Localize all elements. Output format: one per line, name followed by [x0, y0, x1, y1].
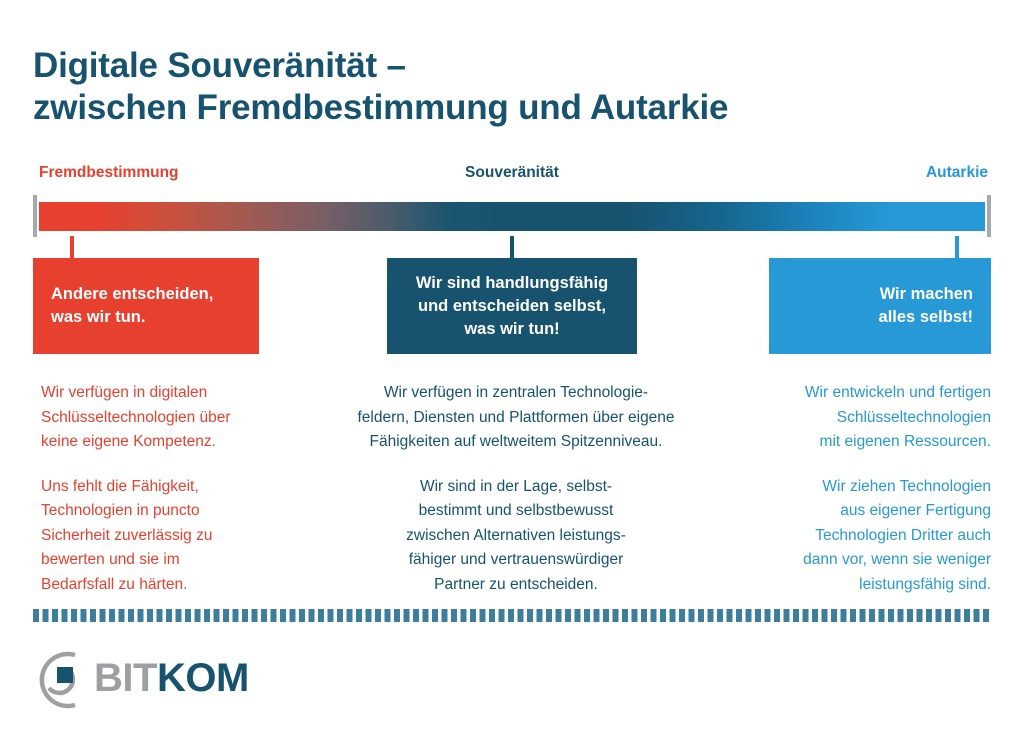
statement-right-line-1: Wir machen — [787, 283, 973, 306]
text-line: aus eigener Fertigung — [751, 499, 991, 524]
text-line: Wir sind in der Lage, selbst- — [351, 475, 681, 500]
page-title-line-2: zwischen Fremdbestimmung und Autarkie — [33, 87, 973, 129]
description-center-paragraph-1: Wir verfügen in zentralen Technologie- f… — [351, 381, 681, 455]
text-line: Bedarfsfall zu härten. — [41, 573, 276, 598]
description-right-paragraph-2: Wir ziehen Technologien aus eigener Fert… — [751, 475, 991, 598]
text-line: Schlüsseltechnologien über — [41, 406, 276, 431]
infographic-page: Digitale Souveränität – zwischen Fremdbe… — [0, 0, 1024, 743]
spectrum-endcap-left — [33, 195, 37, 237]
scale-label-autarkie: Autarkie — [926, 163, 988, 183]
statement-boxes: Andere entscheiden, was wir tun. Wir sin… — [33, 258, 991, 354]
text-line: Technologien in puncto — [41, 499, 276, 524]
text-line: Wir verfügen in zentralen Technologie- — [351, 381, 681, 406]
scale-label-souveraenitaet: Souveränität — [33, 163, 991, 183]
text-line: dann vor, wenn sie weniger — [751, 548, 991, 573]
text-line: Wir entwickeln und fertigen — [751, 381, 991, 406]
description-column-left: Wir verfügen in digitalen Schlüsseltechn… — [41, 381, 276, 597]
statement-left-line-1: Andere entscheiden, — [51, 283, 241, 306]
statement-center-line-3: was wir tun! — [399, 318, 625, 341]
text-line: Wir verfügen in digitalen — [41, 381, 276, 406]
page-title: Digitale Souveränität – zwischen Fremdbe… — [33, 45, 973, 129]
bitkom-wordmark-bit: BIT — [94, 656, 157, 700]
statement-right-line-2: alles selbst! — [787, 306, 973, 329]
dashed-divider — [33, 609, 991, 622]
text-line: fähiger und vertrauenswürdiger — [351, 548, 681, 573]
connector-center — [510, 236, 514, 258]
text-line: Technologien Dritter auch — [751, 524, 991, 549]
text-line: leistungsfähig sind. — [751, 573, 991, 598]
description-left-paragraph-1: Wir verfügen in digitalen Schlüsseltechn… — [41, 381, 276, 455]
text-line: bestimmt und selbstbewusst — [351, 499, 681, 524]
description-center-paragraph-2: Wir sind in der Lage, selbst- bestimmt u… — [351, 475, 681, 598]
page-title-line-1: Digitale Souveränität – — [33, 45, 973, 87]
statement-box-center: Wir sind handlungsfähig und entscheiden … — [387, 258, 637, 354]
description-column-center: Wir verfügen in zentralen Technologie- f… — [351, 381, 681, 597]
spectrum-gradient — [39, 202, 985, 231]
text-line: keine eigene Kompetenz. — [41, 430, 276, 455]
statement-left-line-2: was wir tun. — [51, 306, 241, 329]
text-line: Wir ziehen Technologien — [751, 475, 991, 500]
connector-right — [955, 236, 959, 258]
statement-center-line-1: Wir sind handlungsfähig — [399, 272, 625, 295]
description-left-paragraph-2: Uns fehlt die Fähigkeit, Technologien in… — [41, 475, 276, 598]
text-line: zwischen Alternativen leistungs- — [351, 524, 681, 549]
connector-left — [70, 236, 74, 258]
scale-labels: Fremdbestimmung Souveränität Autarkie — [33, 163, 991, 185]
text-line: bewerten und sie im — [41, 548, 276, 573]
text-line: Schlüsseltechnologien — [751, 406, 991, 431]
text-line: Fähigkeiten auf weltweitem Spitzenniveau… — [351, 430, 681, 455]
statement-center-line-2: und entscheiden selbst, — [399, 295, 625, 318]
bitkom-wordmark-kom: KOM — [157, 656, 249, 700]
bitkom-wordmark: BITKOM — [94, 654, 249, 702]
text-line: Uns fehlt die Fähigkeit, — [41, 475, 276, 500]
statement-box-left: Andere entscheiden, was wir tun. — [33, 258, 259, 354]
text-line: Partner zu entscheiden. — [351, 573, 681, 598]
statement-box-right: Wir machen alles selbst! — [769, 258, 991, 354]
spectrum-endcap-right — [987, 195, 991, 237]
description-right-paragraph-1: Wir entwickeln und fertigen Schlüsseltec… — [751, 381, 991, 455]
text-line: Sicherheit zuverlässig zu — [41, 524, 276, 549]
description-column-right: Wir entwickeln und fertigen Schlüsseltec… — [751, 381, 991, 597]
text-line: mit eigenen Ressourcen. — [751, 430, 991, 455]
text-line: feldern, Diensten und Plattformen über e… — [351, 406, 681, 431]
spectrum-bar — [33, 195, 991, 237]
description-columns: Wir verfügen in digitalen Schlüsseltechn… — [33, 381, 991, 591]
bitkom-logo-mark-icon — [30, 645, 94, 715]
bitkom-logo: BITKOM — [30, 645, 260, 715]
